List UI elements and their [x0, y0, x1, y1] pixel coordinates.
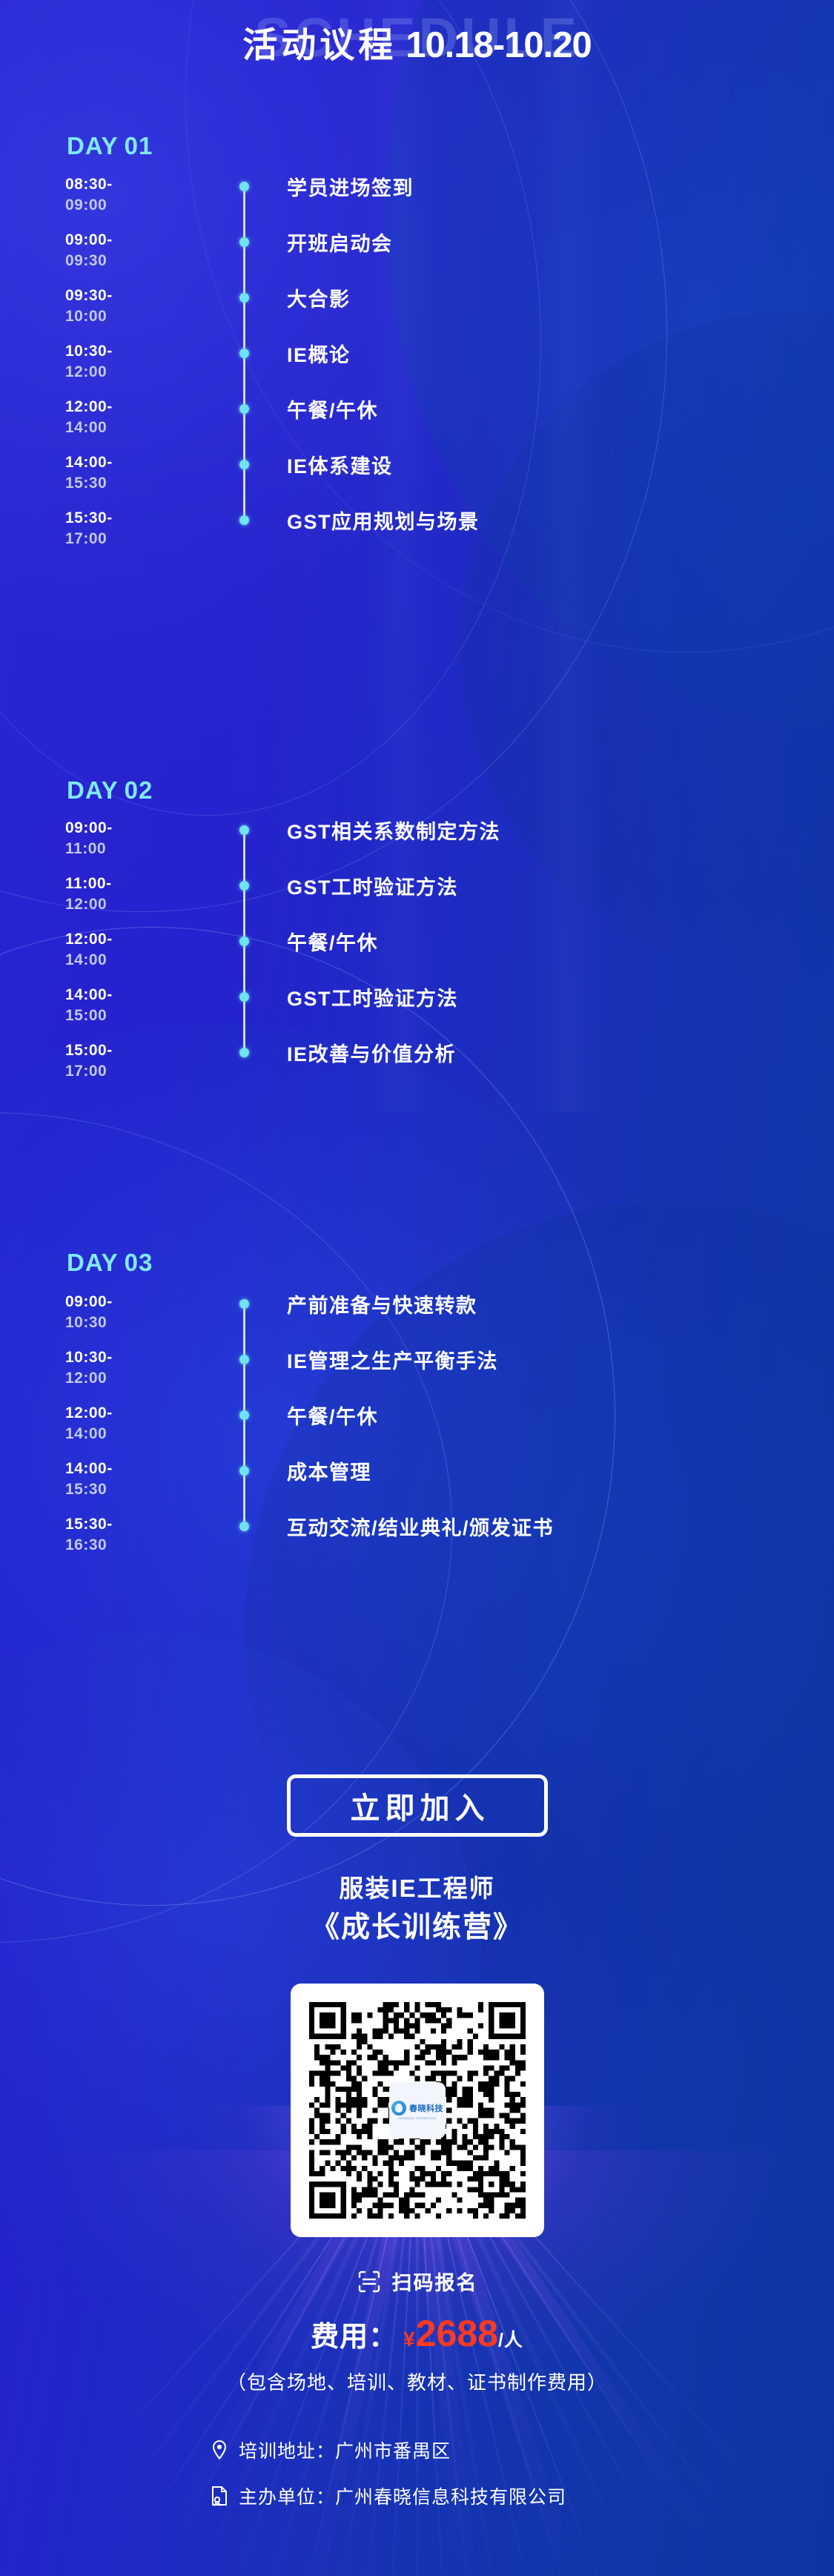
scan-to-register: 扫码报名	[0, 2267, 834, 2296]
day-label-text: DAY	[67, 1249, 119, 1276]
fee-label: 费用：	[311, 2322, 397, 2353]
schedule-time: 08:30-09:00	[65, 174, 176, 215]
schedule-time-end: 14:00	[65, 417, 176, 438]
day-label-text: DAY	[67, 776, 119, 804]
schedule-time-start: 09:00-	[65, 818, 176, 839]
location-pin-icon	[209, 2439, 230, 2461]
schedule-time-end: 12:00	[65, 1368, 176, 1389]
schedule-time-start: 09:00-	[65, 230, 176, 251]
schedule-time-end: 14:00	[65, 950, 176, 971]
fee-amount: 2688	[416, 2313, 498, 2354]
join-now-label: 立即加入	[345, 1784, 490, 1827]
schedule-event-title: 学员进场签到	[287, 172, 414, 201]
schedule-time: 11:00-12:00	[65, 873, 176, 914]
schedule-time-start: 14:00-	[65, 1459, 176, 1479]
schedule-time-start: 09:00-	[65, 1292, 176, 1312]
day-label-number: 01	[125, 132, 153, 159]
timeline-dot	[239, 515, 249, 525]
schedule-time-start: 15:00-	[65, 1040, 176, 1061]
timeline-dot	[239, 1299, 249, 1309]
timeline-dot	[239, 825, 249, 835]
schedule-time-start: 15:30-	[65, 508, 176, 529]
schedule-event-title: 互动交流/结业典礼/颁发证书	[287, 1512, 554, 1541]
schedule-time-end: 11:00	[65, 839, 176, 859]
schedule-event-title: 午餐/午休	[287, 394, 378, 423]
qr-logo-row: 春晓科技	[391, 2101, 443, 2116]
schedule-time-start: 12:00-	[65, 929, 176, 950]
schedule-time: 14:00-15:30	[65, 452, 176, 493]
schedule-time-start: 10:30-	[65, 341, 176, 362]
day-label-number: 02	[125, 776, 153, 804]
timeline-dot	[239, 1410, 249, 1420]
organizer: 主办单位：广州春晓信息科技有限公司	[209, 2483, 566, 2509]
day-label-03: DAY03	[67, 1249, 153, 1277]
schedule-time-start: 14:00-	[65, 985, 176, 1005]
schedule-time: 10:30-12:00	[65, 1347, 176, 1388]
fee-note: （包含场地、培训、教材、证书制作费用）	[0, 2368, 834, 2395]
poster-root: SCHEDULE 活动议程10.18-10.20 DAY0108:30-09:0…	[0, 0, 834, 2576]
timeline-dot	[239, 937, 249, 946]
schedule-time-end: 12:00	[65, 894, 176, 915]
qr-logo-name: 春晓科技	[409, 2102, 443, 2114]
fee-currency: ¥	[403, 2328, 416, 2351]
schedule-event-title: IE概论	[287, 339, 351, 368]
schedule-time-start: 08:30-	[65, 174, 176, 195]
schedule-time-end: 17:00	[65, 529, 176, 549]
day-label-text: DAY	[67, 132, 119, 159]
join-now-button[interactable]: 立即加入	[287, 1774, 548, 1837]
schedule-time-start: 14:00-	[65, 452, 176, 473]
schedule-event-title: IE改善与价值分析	[287, 1038, 456, 1067]
page-title: 活动议程10.18-10.20	[0, 16, 834, 67]
timeline-dot	[239, 182, 249, 191]
schedule-time: 12:00-14:00	[65, 1403, 176, 1444]
timeline-dot	[239, 881, 249, 891]
timeline-dot	[239, 293, 249, 303]
schedule-event-title: IE体系建设	[287, 450, 393, 479]
schedule-time-end: 09:30	[65, 251, 176, 271]
schedule-time-start: 12:00-	[65, 1403, 176, 1424]
company-logo-icon	[391, 2101, 406, 2116]
schedule-time-start: 09:30-	[65, 285, 176, 306]
camp-line-2: 《成长训练营》	[0, 1904, 834, 1946]
schedule-time-end: 14:00	[65, 1424, 176, 1444]
schedule-time-end: 15:00	[65, 1005, 176, 1026]
schedule-time: 10:30-12:00	[65, 341, 176, 382]
camp-line-1: 服装IE工程师	[0, 1869, 834, 1904]
schedule-time-end: 09:00	[65, 195, 176, 216]
schedule-event-title: 成本管理	[287, 1456, 371, 1485]
schedule-time-start: 15:30-	[65, 1514, 176, 1535]
day-label-01: DAY01	[67, 132, 153, 160]
schedule-event-title: GST工时验证方法	[287, 982, 458, 1011]
schedule-event-title: 产前准备与快速转款	[287, 1289, 477, 1318]
schedule-time-end: 10:30	[65, 1312, 176, 1333]
schedule-time: 15:00-17:00	[65, 1040, 176, 1081]
page-title-cn: 活动议程	[242, 25, 397, 65]
schedule-time-start: 10:30-	[65, 1347, 176, 1368]
day-label-02: DAY02	[67, 776, 153, 805]
schedule-time: 12:00-14:00	[65, 397, 176, 437]
timeline-dot	[239, 349, 249, 358]
schedule-time: 09:30-10:00	[65, 285, 176, 326]
schedule-time-end: 12:00	[65, 362, 176, 383]
poster-header: SCHEDULE 活动议程10.18-10.20	[0, 0, 834, 89]
timeline-dot	[239, 1522, 249, 1531]
organizer-label: 主办单位：广州春晓信息科技有限公司	[239, 2483, 566, 2509]
schedule-event-title: GST应用规划与场景	[287, 506, 480, 535]
schedule-time: 09:00-10:30	[65, 1292, 176, 1332]
training-address-label: 培训地址：广州市番禺区	[239, 2437, 451, 2463]
schedule-time: 12:00-14:00	[65, 929, 176, 970]
timeline-dot	[239, 404, 249, 414]
qr-logo-subtitle: CHUNXIAO TECHNOLOGY	[398, 2117, 437, 2120]
schedule-event-title: GST工时验证方法	[287, 871, 458, 900]
schedule-event-title: IE管理之生产平衡手法	[287, 1345, 498, 1374]
scan-label: 扫码报名	[392, 2267, 478, 2296]
schedule-event-title: 开班启动会	[287, 228, 393, 257]
schedule-time-end: 16:30	[65, 1535, 176, 1556]
timeline-dot	[239, 1466, 249, 1476]
schedule-event-title: 午餐/午休	[287, 1401, 378, 1430]
page-title-dates: 10.18-10.20	[406, 25, 592, 65]
scan-icon	[357, 2269, 382, 2294]
schedule-event-title: GST相关系数制定方法	[287, 816, 500, 845]
fee-unit: /人	[498, 2330, 523, 2351]
schedule-time-end: 15:30	[65, 1479, 176, 1500]
training-address: 培训地址：广州市番禺区	[209, 2437, 451, 2463]
qr-center-logo: 春晓科技 CHUNXIAO TECHNOLOGY	[389, 2082, 446, 2139]
schedule-time: 14:00-15:30	[65, 1459, 176, 1499]
schedule-time: 09:00-11:00	[65, 818, 176, 859]
timeline-dot	[239, 1048, 249, 1057]
schedule-time-end: 10:00	[65, 306, 176, 327]
schedule-time-start: 11:00-	[65, 873, 176, 894]
qr-code-card[interactable]: 春晓科技 CHUNXIAO TECHNOLOGY	[291, 1984, 544, 2237]
timeline-dot	[239, 460, 249, 469]
schedule-time-start: 12:00-	[65, 397, 176, 417]
timeline-dot	[239, 237, 249, 247]
timeline-dot	[239, 992, 249, 1002]
schedule-event-title: 大合影	[287, 283, 351, 312]
schedule-event-title: 午餐/午休	[287, 927, 378, 956]
fee-line: 费用：¥2688/人	[0, 2312, 834, 2355]
schedule-time: 15:30-16:30	[65, 1514, 176, 1555]
schedule-time-end: 17:00	[65, 1061, 176, 1082]
schedule-time: 09:00-09:30	[65, 230, 176, 271]
day-label-number: 03	[125, 1249, 153, 1276]
schedule-time: 14:00-15:00	[65, 985, 176, 1026]
schedule-time: 15:30-17:00	[65, 508, 176, 549]
schedule-time-end: 15:30	[65, 473, 176, 494]
timeline-dot	[239, 1355, 249, 1364]
certificate-icon	[209, 2485, 230, 2507]
